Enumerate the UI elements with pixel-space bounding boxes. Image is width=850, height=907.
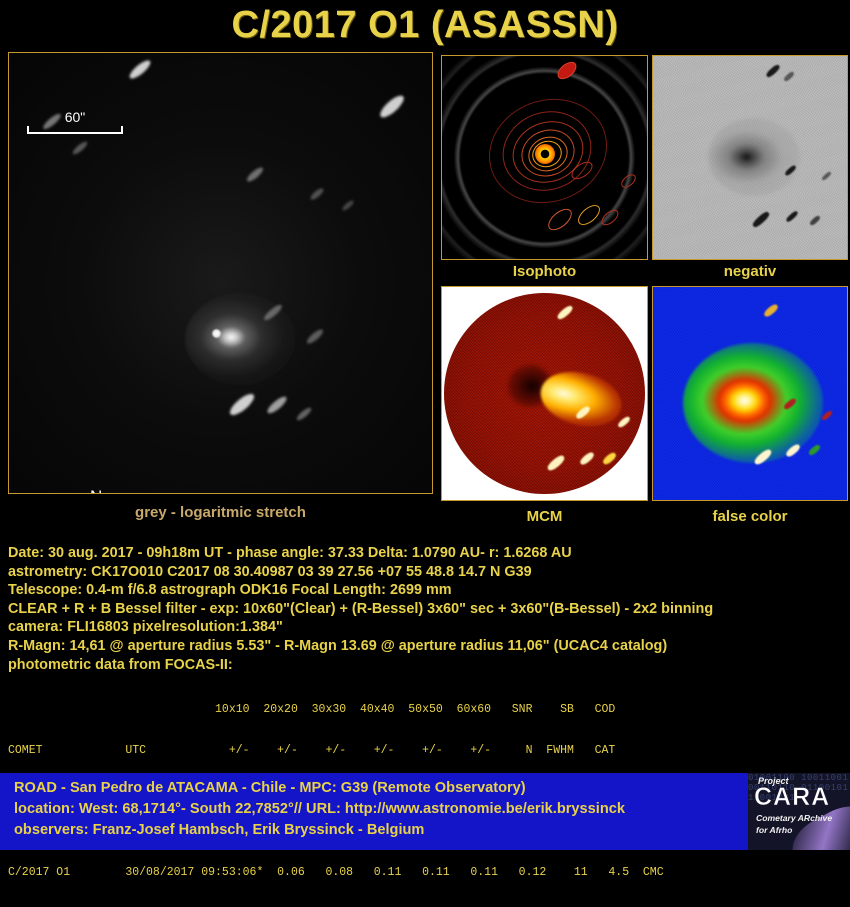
- footer-bar: ROAD - San Pedro de ATACAMA - Chile - MP…: [0, 773, 850, 850]
- info-line-camera: camera: FLI16803 pixelresolution:1.384": [8, 618, 844, 637]
- scale-bar: 60": [27, 111, 123, 141]
- scale-bar-line: [27, 132, 123, 134]
- footer-observatory: ROAD - San Pedro de ATACAMA - Chile - MP…: [14, 780, 526, 796]
- info-line-photometric-source: photometric data from FOCAS-II:: [8, 656, 844, 675]
- table-header-columns: COMET UTC +/- +/- +/- +/- +/- +/- N FWHM…: [8, 744, 844, 758]
- isophoto-label: Isophoto: [441, 263, 648, 280]
- negativ-label: negativ: [652, 263, 848, 280]
- footer-observers: observers: Franz-Josef Hambsch, Erik Bry…: [14, 822, 424, 838]
- isophoto-core: [535, 144, 555, 164]
- info-line-telescope: Telescope: 0.4-m f/6.8 astrograph ODK16 …: [8, 581, 844, 600]
- false-color-panel: [652, 286, 848, 501]
- table-header-apertures: 10x10 20x20 30x30 40x40 50x50 60x60 SNR …: [8, 703, 844, 717]
- info-line-magnitude: R-Magn: 14,61 @ aperture radius 5.53" - …: [8, 637, 844, 656]
- scale-bar-label: 60": [27, 109, 123, 125]
- page-title: C/2017 O1 (ASASSN): [0, 2, 850, 48]
- false-color-coma: [683, 343, 823, 463]
- cara-subtitle-1: Cometary ARchive: [756, 813, 832, 823]
- false-color-label: false color: [652, 508, 848, 525]
- cara-subtitle-2: for Afrho: [756, 825, 792, 835]
- cara-name: CARA: [754, 783, 830, 812]
- comet-coma: [185, 293, 295, 385]
- compass-north-label: N: [90, 487, 102, 494]
- negativ-panel: [652, 55, 848, 260]
- mcm-panel: [441, 286, 648, 501]
- info-line-filter-exposure: CLEAR + R + B Bessel filter - exp: 10x60…: [8, 600, 844, 619]
- isophoto-panel: [441, 55, 648, 260]
- info-line-date: Date: 30 aug. 2017 - 09h18m UT - phase a…: [8, 544, 844, 563]
- info-line-astrometry: astrometry: CK17O010 C2017 08 30.40987 0…: [8, 563, 844, 582]
- scale-bar-tick-left: [27, 126, 29, 134]
- negativ-coma: [708, 118, 800, 196]
- comet-observation-poster: C/2017 O1 (ASASSN) 60" N E grey - lo: [0, 0, 850, 850]
- scale-bar-tick-right: [121, 126, 123, 134]
- table-row: C/2017 O1 30/08/2017 09:53:06* 0.06 0.08…: [8, 866, 844, 880]
- footer-location-url[interactable]: location: West: 68,1714°- South 22,7852°…: [14, 801, 625, 817]
- comet-nucleus: [212, 329, 221, 338]
- mcm-label: MCM: [441, 508, 648, 525]
- main-image-label: grey - logaritmic stretch: [8, 504, 433, 521]
- main-image-panel: 60" N E: [8, 52, 433, 494]
- observation-info: Date: 30 aug. 2017 - 09h18m UT - phase a…: [8, 544, 844, 674]
- cara-logo: 01001100 10011001 00110110 01100101 1100…: [748, 773, 850, 850]
